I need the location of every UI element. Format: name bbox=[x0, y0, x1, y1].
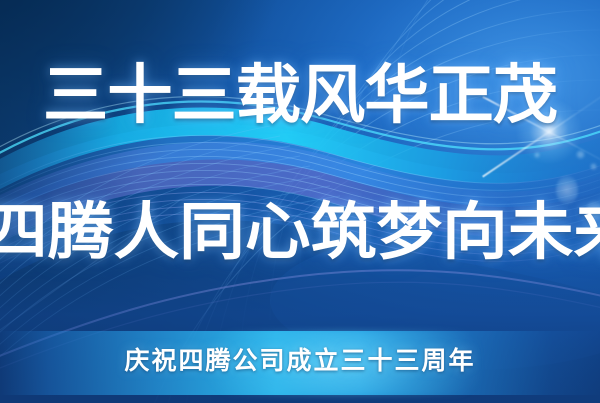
banner-content: 三十三载风华正茂 四腾人同心筑梦向未来 庆祝四腾公司成立三十三周年 bbox=[0, 0, 600, 403]
headline-line-1: 三十三载风华正茂 bbox=[0, 56, 600, 134]
headline-line-2: 四腾人同心筑梦向未来 bbox=[0, 195, 600, 271]
anniversary-banner: 三十三载风华正茂 四腾人同心筑梦向未来 庆祝四腾公司成立三十三周年 bbox=[0, 0, 600, 403]
subtitle-text: 庆祝四腾公司成立三十三周年 bbox=[0, 341, 600, 383]
